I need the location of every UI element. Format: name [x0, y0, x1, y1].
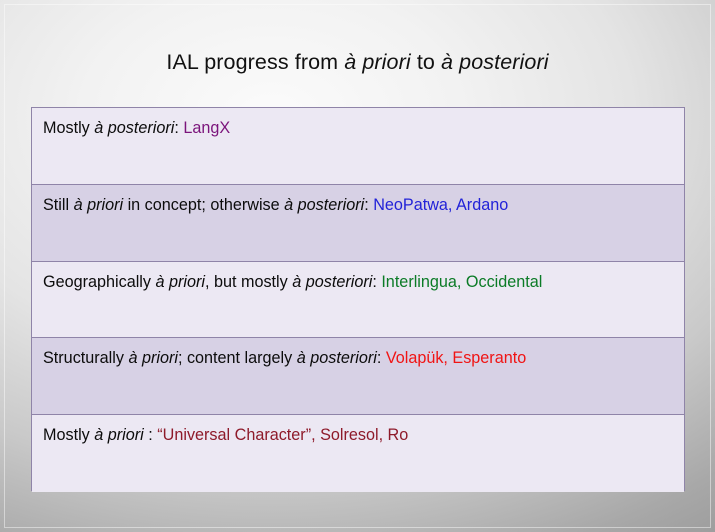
- row-mid: :: [144, 426, 158, 444]
- row-examples: Interlingua, Occidental: [381, 273, 542, 291]
- title-mid: to: [411, 50, 441, 74]
- title-italic-a-posteriori: à posteriori: [441, 50, 549, 74]
- slide-canvas: IAL progress from à priori to à posterio…: [0, 0, 715, 532]
- title-italic-a-priori: à priori: [344, 50, 411, 74]
- row-mostly-a-priori: Mostly à priori : “Universal Character”,…: [32, 415, 684, 492]
- row-lead: Mostly: [43, 119, 94, 137]
- row-lead: Structurally: [43, 349, 128, 367]
- row-text: Geographically à priori, but mostly à po…: [43, 272, 684, 292]
- slide-title: IAL progress from à priori to à posterio…: [0, 50, 715, 75]
- row-examples: LangX: [183, 119, 230, 137]
- row-italic-2: à posteriori: [292, 273, 372, 291]
- row-lead: Mostly: [43, 426, 94, 444]
- row-tail: :: [377, 349, 386, 367]
- row-italic-1: à priori: [74, 196, 123, 214]
- row-text: Mostly à priori : “Universal Character”,…: [43, 425, 684, 445]
- progress-table: Mostly à posteriori: LangXStill à priori…: [31, 107, 685, 491]
- row-mid: , but mostly: [205, 273, 292, 291]
- row-lead: Geographically: [43, 273, 155, 291]
- row-italic-2: à posteriori: [284, 196, 364, 214]
- row-lead: Still: [43, 196, 74, 214]
- row-examples: “Universal Character”, Solresol, Ro: [157, 426, 408, 444]
- row-italic-1: à priori: [128, 349, 177, 367]
- row-examples: NeoPatwa, Ardano: [373, 196, 508, 214]
- row-tail: :: [364, 196, 373, 214]
- row-a-priori-in-concept: Still à priori in concept; otherwise à p…: [32, 185, 684, 262]
- row-structurally-a-priori: Structurally à priori; content largely à…: [32, 338, 684, 415]
- row-italic-1: à posteriori: [94, 119, 174, 137]
- row-examples: Volapük, Esperanto: [386, 349, 526, 367]
- row-italic-1: à priori: [155, 273, 204, 291]
- title-lead: IAL progress from: [166, 50, 344, 74]
- row-tail: :: [372, 273, 381, 291]
- row-mid: ; content largely: [178, 349, 297, 367]
- row-text: Structurally à priori; content largely à…: [43, 348, 684, 368]
- row-italic-2: à posteriori: [297, 349, 377, 367]
- row-mostly-a-posteriori: Mostly à posteriori: LangX: [32, 108, 684, 185]
- row-geographically-a-priori: Geographically à priori, but mostly à po…: [32, 262, 684, 339]
- row-mid: in concept; otherwise: [123, 196, 284, 214]
- row-italic-1: à priori: [94, 426, 143, 444]
- row-mid: :: [174, 119, 183, 137]
- row-text: Mostly à posteriori: LangX: [43, 118, 684, 138]
- row-text: Still à priori in concept; otherwise à p…: [43, 195, 684, 215]
